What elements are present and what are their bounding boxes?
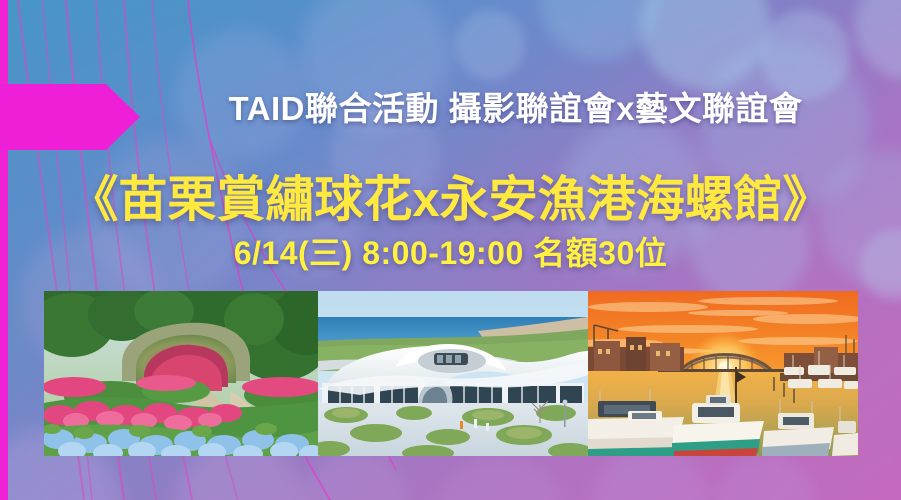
event-banner: TAID聯合活動 攝影聯誼會x藝文聯誼會 《苗栗賞繡球花x永安漁港海螺館》 6/… bbox=[0, 0, 901, 500]
photo-strip bbox=[44, 291, 858, 456]
banner-headline: TAID聯合活動 攝影聯誼會x藝文聯誼會 bbox=[0, 82, 901, 130]
headline-lead: TAID聯合活動 bbox=[98, 90, 439, 127]
photo-yongan-fishing-harbor bbox=[588, 291, 858, 456]
photo-hydrangea-garden bbox=[44, 291, 318, 456]
banner-subtitle: 6/14(三) 8:00-19:00 名額30位 bbox=[0, 228, 901, 274]
photo-sea-conch-hall bbox=[318, 291, 588, 456]
headline-tail: 攝影聯誼會x藝文聯誼會 bbox=[449, 90, 803, 127]
banner-title: 《苗栗賞繡球花x永安漁港海螺館》 bbox=[0, 160, 901, 231]
